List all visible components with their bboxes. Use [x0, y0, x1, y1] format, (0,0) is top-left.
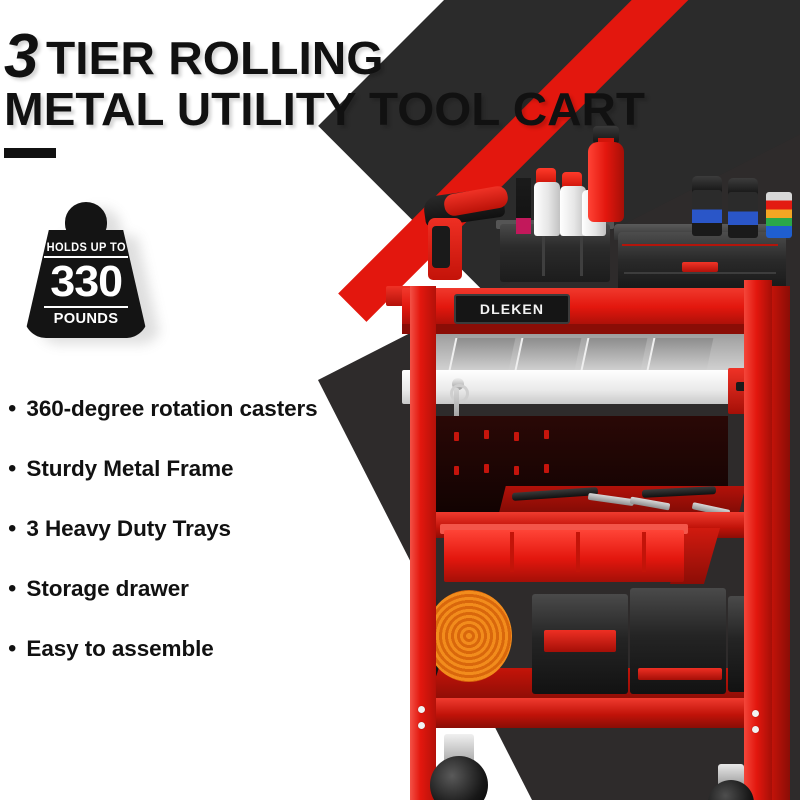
frame-rivet [418, 706, 425, 713]
pegboard-hole [514, 432, 519, 441]
headline-line-1-rest: TIER ROLLING [46, 37, 384, 79]
badge-unit-label: POUNDS [54, 310, 119, 327]
frame-rivet [752, 710, 759, 717]
list-item: • 3 Heavy Duty Trays [8, 516, 438, 542]
bullet-icon: • [8, 637, 16, 661]
power-drill-grip [432, 226, 450, 268]
drawer-compartment [449, 338, 516, 370]
spray-bottle-white [534, 182, 560, 236]
headline-line-1: 3TIER ROLLING [4, 28, 764, 85]
frame-rivet [752, 726, 759, 733]
organizer-divider [510, 532, 514, 572]
cart-top-shelf-lip [402, 324, 790, 334]
product-label-accent [516, 218, 531, 234]
feature-label: Sturdy Metal Frame [26, 456, 233, 482]
brand-name: DLEKEN [480, 301, 544, 317]
feature-list: • 360-degree rotation casters • Sturdy M… [8, 396, 438, 696]
caster-wheel [430, 756, 488, 800]
drawer-compartment [647, 338, 714, 370]
weight-capacity-badge: HOLDS UP TO 330 POUNDS [18, 196, 158, 342]
pegboard-hole [544, 464, 549, 473]
product-image-tool-cart: DLEKEN [392, 120, 800, 800]
spray-can-blue [692, 190, 722, 236]
feature-label: 360-degree rotation casters [26, 396, 317, 422]
bullet-icon: • [8, 577, 16, 601]
drawer-key-head [450, 384, 469, 403]
parts-bin-divider [542, 230, 545, 276]
organizer-divider [576, 532, 580, 572]
headline-underline-dash [4, 148, 56, 158]
parts-bin-divider [580, 230, 583, 276]
tool-case-seam [624, 272, 776, 274]
product-marketing-image: 3TIER ROLLING METAL UTILITY TOOL CART HO… [0, 0, 800, 800]
tool-case-latch [682, 262, 718, 272]
bullet-icon: • [8, 457, 16, 481]
bullet-icon: • [8, 397, 16, 421]
drawer-compartment [515, 338, 582, 370]
spray-can-blue [728, 192, 758, 238]
sport-bottle-red [588, 142, 624, 222]
drawer-compartment [581, 338, 648, 370]
list-item: • 360-degree rotation casters [8, 396, 438, 422]
frame-rivet [418, 722, 425, 729]
badge-text-group: HOLDS UP TO 330 POUNDS [24, 230, 148, 338]
feature-label: Storage drawer [26, 576, 188, 602]
list-item: • Storage drawer [8, 576, 438, 602]
bullet-icon: • [8, 517, 16, 541]
organizer-divider [642, 532, 646, 572]
red-organizer-bin [444, 530, 684, 582]
tool-case-handle [544, 630, 616, 652]
tool-case-trim-red [638, 668, 722, 680]
pegboard-hole [484, 464, 489, 473]
brand-plate: DLEKEN [454, 294, 570, 324]
cart-frame-post-right [744, 280, 772, 800]
pegboard-hole [454, 432, 459, 441]
headline-block: 3TIER ROLLING METAL UTILITY TOOL CART [4, 28, 764, 130]
spray-can-multicolor [766, 192, 792, 238]
feature-label: Easy to assemble [26, 636, 213, 662]
badge-capacity-value: 330 [50, 260, 122, 304]
pegboard-hole [514, 466, 519, 475]
list-item: • Easy to assemble [8, 636, 438, 662]
headline-tier-number: 3 [4, 28, 37, 85]
pegboard-hole [454, 466, 459, 475]
badge-top-label: HOLDS UP TO [46, 242, 125, 254]
feature-label: 3 Heavy Duty Trays [26, 516, 231, 542]
orange-cable-reel [426, 590, 512, 682]
pegboard-hole [544, 430, 549, 439]
cart-frame-post-right-back [772, 286, 790, 800]
cart-bottom-shelf [410, 698, 772, 728]
list-item: • Sturdy Metal Frame [8, 456, 438, 482]
pegboard-hole [484, 430, 489, 439]
badge-rule-bottom [44, 306, 128, 308]
tool-case-trim [622, 244, 778, 246]
